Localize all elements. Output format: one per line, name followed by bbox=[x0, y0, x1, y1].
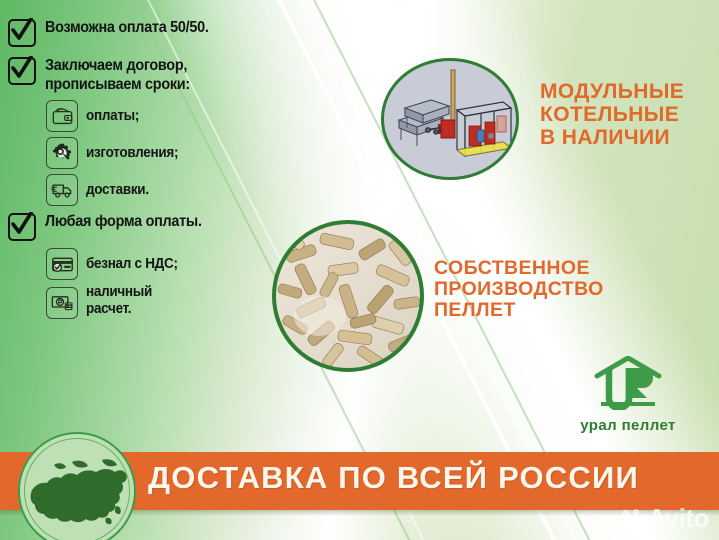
payment-methods-list: безнал с НДС; наличный расчет. bbox=[46, 248, 308, 319]
list-item-label: безнал с НДС; bbox=[86, 257, 178, 272]
list-item: наличный расчет. bbox=[46, 285, 308, 319]
headline-modular-boilers: МОДУЛЬНЫЕ КОТЕЛЬНЫЕ В НАЛИЧИИ bbox=[540, 80, 684, 149]
truck-icon bbox=[46, 174, 78, 206]
contract-terms-list: оплаты; изготовления; bbox=[46, 100, 308, 206]
list-item-label: наличный bbox=[86, 285, 152, 300]
headline-line: МОДУЛЬНЫЕ bbox=[540, 80, 684, 103]
headline-line: ПЕЛЛЕТ bbox=[434, 300, 604, 321]
checklist-item-label: прописываем сроки: bbox=[45, 75, 190, 94]
checklist-item-label: Заключаем договор, bbox=[45, 56, 190, 75]
headline-line: СОБСТВЕННОЕ bbox=[434, 258, 604, 279]
russia-emblem-inner-ring bbox=[24, 438, 130, 540]
list-item: безнал с НДС; bbox=[46, 248, 308, 280]
checklist-item-label: Любая форма оплаты. bbox=[45, 212, 202, 231]
headline-line: ПРОИЗВОДСТВО bbox=[434, 279, 604, 300]
checkmark-icon bbox=[8, 19, 36, 47]
wallet-icon bbox=[46, 100, 78, 132]
checklist-item: Возможна оплата 50/50. bbox=[8, 18, 308, 47]
boiler-image bbox=[381, 58, 519, 180]
checklist-item: Любая форма оплаты. bbox=[8, 212, 308, 241]
company-logo: урал пеллет bbox=[572, 356, 684, 434]
headline-line: КОТЕЛЬНЫЕ bbox=[540, 103, 684, 126]
gear-wrench-icon bbox=[46, 137, 78, 169]
up-house-logo-icon bbox=[593, 356, 663, 410]
promo-poster: Возможна оплата 50/50. Заключаем договор… bbox=[0, 0, 719, 540]
checkmark-icon bbox=[8, 57, 36, 85]
list-item: оплаты; bbox=[46, 100, 308, 132]
logo-wordmark: урал пеллет bbox=[572, 417, 684, 434]
checklist-item: Заключаем договор, прописываем сроки: bbox=[8, 56, 308, 93]
benefits-checklist: Возможна оплата 50/50. Заключаем договор… bbox=[8, 18, 308, 325]
list-item-label: изготовления; bbox=[86, 146, 178, 161]
list-item-label: расчет. bbox=[86, 302, 152, 317]
cash-ruble-icon bbox=[46, 287, 78, 319]
credit-card-icon bbox=[46, 248, 78, 280]
avito-watermark: Avito bbox=[620, 503, 709, 534]
checklist-item-label: Возможна оплата 50/50. bbox=[45, 18, 209, 37]
headline-own-pellet-production: СОБСТВЕННОЕ ПРОИЗВОДСТВО ПЕЛЛЕТ bbox=[434, 258, 604, 321]
list-item-label: доставки. bbox=[86, 183, 149, 198]
list-item: доставки. bbox=[46, 174, 308, 206]
delivery-banner-text: ДОСТАВКА ПО ВСЕЙ РОССИИ bbox=[148, 460, 639, 496]
avito-wordmark: Avito bbox=[647, 503, 709, 534]
list-item: изготовления; bbox=[46, 137, 308, 169]
checkmark-icon bbox=[8, 213, 36, 241]
headline-line: В НАЛИЧИИ bbox=[540, 126, 684, 149]
avito-dots-icon bbox=[620, 507, 644, 531]
list-item-label: оплаты; bbox=[86, 109, 139, 124]
